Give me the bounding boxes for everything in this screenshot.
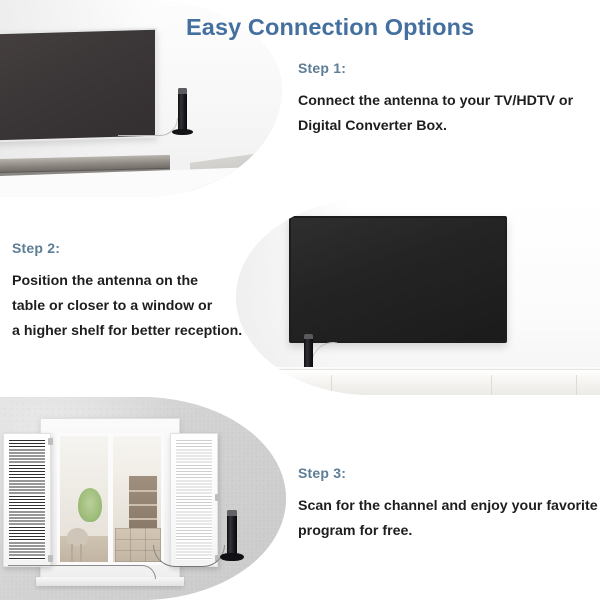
step-2-label: Step 2:	[12, 240, 242, 256]
antenna-cable-run	[8, 565, 156, 579]
antenna-base	[220, 553, 244, 561]
step-3-block: Step 3: Scan for the channel and enjoy y…	[298, 465, 598, 544]
step-1-block: Step 1: Connect the antenna to your TV/H…	[298, 60, 573, 139]
product-infographic: Easy Connection Options Step 1: Connect …	[0, 0, 600, 600]
step-2-line-2: table or closer to a window or	[12, 294, 242, 319]
antenna-cable	[153, 545, 225, 567]
chair-leg	[80, 544, 82, 562]
shutter-left	[3, 433, 51, 567]
antenna-base	[172, 129, 193, 135]
console-divider	[331, 375, 332, 395]
step-3-line-2: program for free.	[298, 519, 598, 544]
shutter-hinge	[215, 494, 220, 501]
step-1-body: Connect the antenna to your TV/HDTV or D…	[298, 89, 573, 139]
antenna	[227, 510, 237, 557]
media-console	[254, 369, 600, 395]
shelf-line	[129, 490, 157, 492]
chair-leg	[71, 544, 73, 562]
console-divider	[576, 375, 577, 395]
interior-plant	[78, 488, 102, 522]
step-2-block: Step 2: Position the antenna on the tabl…	[12, 240, 242, 344]
step-1-line-2: Digital Converter Box.	[298, 114, 573, 139]
console-divider	[491, 375, 492, 395]
shelf-line	[129, 504, 157, 506]
window-mullion	[108, 436, 113, 562]
photo-tv-on-white-media-console	[236, 199, 600, 395]
antenna-tip	[178, 88, 187, 94]
shutter-louvers	[9, 440, 45, 560]
shutter-hinge	[48, 438, 53, 445]
window-glass	[57, 433, 164, 565]
step-3-line-1: Scan for the channel and enjoy your favo…	[298, 494, 598, 519]
step-1-label: Step 1:	[298, 60, 573, 76]
step-3-body: Scan for the channel and enjoy your favo…	[298, 494, 598, 544]
antenna-tip	[304, 334, 313, 339]
tv-screen	[291, 218, 505, 341]
antenna-tip	[227, 510, 237, 516]
antenna-cable	[118, 118, 178, 136]
shelf-line	[129, 518, 157, 520]
step-2-line-1: Position the antenna on the	[12, 269, 242, 294]
step-2-line-3: a higher shelf for better reception.	[12, 319, 242, 344]
window-pane-left	[60, 436, 111, 562]
window-pane-right	[111, 436, 162, 562]
interior-shelving	[129, 476, 157, 528]
step-2-body: Position the antenna on the table or clo…	[12, 269, 242, 344]
television	[289, 216, 507, 343]
shutter-louvers	[176, 440, 212, 560]
antenna	[178, 88, 187, 132]
step-3-label: Step 3:	[298, 465, 598, 481]
photo-window-with-shutters-and-antenna	[0, 397, 286, 600]
page-title: Easy Connection Options	[186, 14, 474, 41]
step-1-line-1: Connect the antenna to your TV/HDTV or	[298, 89, 573, 114]
shutter-hinge	[48, 555, 53, 562]
